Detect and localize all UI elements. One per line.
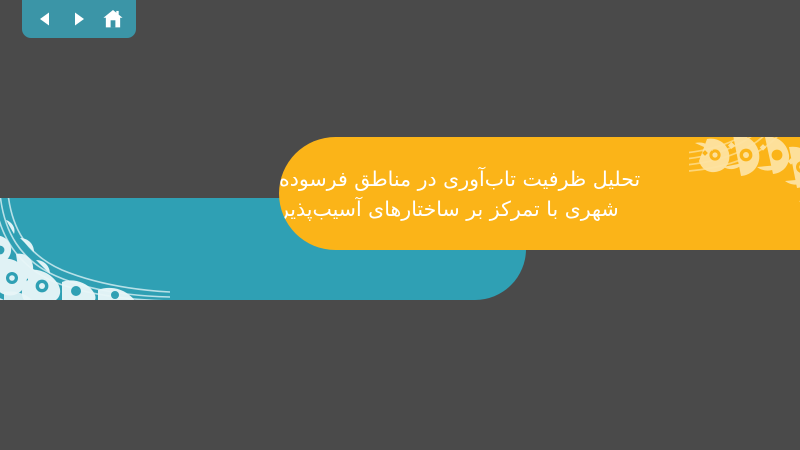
back-button[interactable] (31, 5, 59, 33)
slide-canvas: تحلیل ظرفیت تاب‌آوری در مناطق فرسوده شهر… (0, 0, 800, 450)
arabesque-ornament-teal-icon (0, 198, 170, 300)
home-icon (102, 8, 124, 30)
navigation-bar (22, 0, 136, 38)
back-triangle-icon (36, 10, 54, 28)
title-line-2: شهری با تمرکز بر ساختارهای آسیب‌پذیر (279, 194, 619, 224)
forward-triangle-icon (70, 10, 88, 28)
title-banner: تحلیل ظرفیت تاب‌آوری در مناطق فرسوده شهر… (279, 137, 800, 250)
home-button[interactable] (99, 5, 127, 33)
slide-title: تحلیل ظرفیت تاب‌آوری در مناطق فرسوده شهر… (279, 137, 800, 250)
forward-button[interactable] (65, 5, 93, 33)
title-line-1: تحلیل ظرفیت تاب‌آوری در مناطق فرسوده (279, 164, 640, 194)
